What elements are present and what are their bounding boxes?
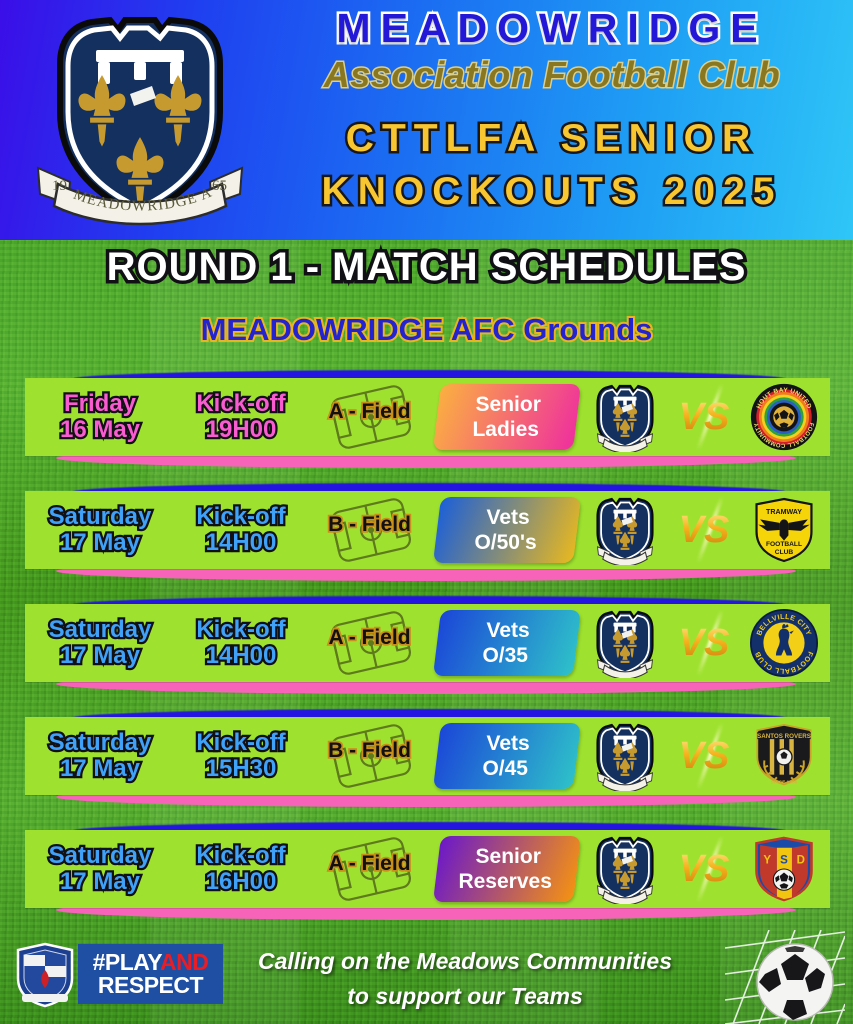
kickoff-label: Kick-off xyxy=(196,391,285,417)
field-label: A - Field xyxy=(307,852,432,876)
away-team-cell: TRAMWAY FOOTBALL CLUB xyxy=(740,491,828,569)
versus-cell: VS xyxy=(668,717,740,795)
kickoff-label: Kick-off xyxy=(196,617,285,643)
match-bar: Friday 16 May Kick-off 19H00 A - Field xyxy=(25,378,830,456)
versus-cell: VS xyxy=(668,378,740,456)
versus-cell: VS xyxy=(668,830,740,908)
category-chip: Vets O/45 xyxy=(433,723,581,789)
category-cell: Senior Reserves xyxy=(432,830,582,908)
svg-text:D: D xyxy=(797,855,805,867)
match-date-cell: Saturday 17 May xyxy=(25,717,175,795)
category-cell: Vets O/50's xyxy=(432,491,582,569)
match-date-cell: Saturday 17 May xyxy=(25,491,175,569)
category-cell: Senior Ladies xyxy=(432,378,582,456)
category-line-2: Reserves xyxy=(459,869,552,894)
kickoff-time: 14H00 xyxy=(196,530,285,556)
away-badge-hout-bay-united: HOUT BAY UNITED FOOTBALL COMMUNITY xyxy=(750,383,818,451)
match-row: Saturday 17 May Kick-off 16H00 A - Field xyxy=(0,822,853,935)
versus-cell: VS xyxy=(668,491,740,569)
field-cell: A - Field xyxy=(307,378,432,456)
club-crest-logo: 19 65 MEADOWRIDGE A F C xyxy=(30,8,250,236)
kickoff-cell: Kick-off 19H00 xyxy=(175,378,307,456)
hashtag-line-2: RESPECT xyxy=(98,974,203,997)
goalpost-emblem xyxy=(96,50,184,84)
versus-label: VS xyxy=(679,848,730,891)
svg-text:S: S xyxy=(780,855,788,867)
badge-text-mid: FOOTBALL xyxy=(766,541,802,548)
competition-title-line2: KNOCKOUTS 2025 xyxy=(252,166,852,219)
category-chip: Vets O/35 xyxy=(433,610,581,676)
category-line-1: Senior xyxy=(476,844,541,869)
badge-text-top: TRAMWAY xyxy=(766,508,802,516)
hashtag-line-1: #PLAYAND xyxy=(93,951,209,974)
versus-label: VS xyxy=(679,509,730,552)
kickoff-time: 14H00 xyxy=(196,643,285,669)
home-team-cell xyxy=(582,491,668,569)
away-team-cell: HOUT BAY UNITED FOOTBALL COMMUNITY xyxy=(740,378,828,456)
home-team-badge xyxy=(594,834,656,904)
kickoff-label: Kick-off xyxy=(196,843,285,869)
match-date: 17 May xyxy=(49,869,152,895)
badge-text-bottom: CLUB xyxy=(775,549,794,556)
category-line-1: Vets xyxy=(487,731,530,756)
kickoff-cell: Kick-off 14H00 xyxy=(175,604,307,682)
away-team-cell: BELLVILLE CITY FOOTBALL CLUB xyxy=(740,604,828,682)
match-date: 17 May xyxy=(49,530,152,556)
badge-text-top: SANTOS ROVERS xyxy=(757,733,811,740)
match-date-cell: Saturday 17 May xyxy=(25,604,175,682)
svg-text:Y: Y xyxy=(763,855,771,867)
kickoff-cell: Kick-off 14H00 xyxy=(175,491,307,569)
school-crest-icon xyxy=(14,942,76,1008)
footer-message-line-1: Calling on the Meadows Communities xyxy=(230,944,700,979)
category-line-2: O/35 xyxy=(483,643,529,668)
match-rows: Friday 16 May Kick-off 19H00 A - Field xyxy=(0,370,853,935)
home-team-cell xyxy=(582,717,668,795)
field-cell: A - Field xyxy=(307,830,432,908)
category-chip: Vets O/50's xyxy=(433,497,581,563)
match-row: Saturday 17 May Kick-off 15H30 B - Field xyxy=(0,709,853,822)
field-cell: B - Field xyxy=(307,491,432,569)
away-badge-santos-rovers: SANTOS ROVERS SINCE 1966 xyxy=(752,721,816,791)
home-team-cell xyxy=(582,604,668,682)
versus-label: VS xyxy=(679,396,730,439)
badge-text-bottom: SINCE 1966 xyxy=(771,780,798,786)
match-row: Friday 16 May Kick-off 19H00 A - Field xyxy=(0,370,853,483)
home-team-badge xyxy=(594,382,656,452)
match-day: Saturday xyxy=(49,730,152,756)
footer-message: Calling on the Meadows Communities to su… xyxy=(230,944,700,1013)
field-label: A - Field xyxy=(307,400,432,424)
category-chip: Senior Ladies xyxy=(433,384,581,450)
home-team-cell xyxy=(582,830,668,908)
field-cell: A - Field xyxy=(307,604,432,682)
versus-label: VS xyxy=(679,735,730,778)
play-and-respect-badge: #PLAYAND RESPECT xyxy=(78,944,223,1004)
match-day: Saturday xyxy=(49,843,152,869)
header-titles: MEADOWRIDGE Association Football Club CT… xyxy=(252,6,852,219)
kickoff-cell: Kick-off 16H00 xyxy=(175,830,307,908)
soccer-ball-in-net-icon xyxy=(725,930,845,1024)
match-day: Saturday xyxy=(49,504,152,530)
field-label: B - Field xyxy=(307,513,432,537)
club-subtitle: Association Football Club xyxy=(252,52,852,97)
match-bar: Saturday 17 May Kick-off 14H00 A - Field xyxy=(25,604,830,682)
match-bar: Saturday 17 May Kick-off 16H00 A - Field xyxy=(25,830,830,908)
match-date-cell: Friday 16 May xyxy=(25,378,175,456)
category-cell: Vets O/45 xyxy=(432,717,582,795)
club-name: MEADOWRIDGE xyxy=(252,6,852,50)
away-badge-ysd: Y S D xyxy=(753,835,815,903)
away-badge-tramway-fc: TRAMWAY FOOTBALL CLUB xyxy=(753,496,815,564)
venue-title: MEADOWRIDGE AFC Grounds xyxy=(0,312,853,348)
field-label: A - Field xyxy=(307,626,432,650)
versus-label: VS xyxy=(679,622,730,665)
field-cell: B - Field xyxy=(307,717,432,795)
match-day: Friday xyxy=(60,391,140,417)
category-line-2: O/50's xyxy=(474,530,536,555)
kickoff-time: 19H00 xyxy=(196,417,285,443)
category-cell: Vets O/35 xyxy=(432,604,582,682)
category-line-1: Senior xyxy=(476,392,541,417)
match-schedule-poster: 19 65 MEADOWRIDGE A F C MEADOWRIDGE Asso… xyxy=(0,0,853,1024)
category-chip: Senior Reserves xyxy=(433,836,581,902)
match-date: 17 May xyxy=(49,643,152,669)
home-team-badge xyxy=(594,608,656,678)
match-date-cell: Saturday 17 May xyxy=(25,830,175,908)
kickoff-label: Kick-off xyxy=(196,730,285,756)
match-bar: Saturday 17 May Kick-off 15H30 B - Field xyxy=(25,717,830,795)
category-line-2: O/45 xyxy=(483,756,529,781)
round-title: ROUND 1 - MATCH SCHEDULES xyxy=(0,245,853,290)
match-day: Saturday xyxy=(49,617,152,643)
kickoff-time: 15H30 xyxy=(196,756,285,782)
footer-message-line-2: to support our Teams xyxy=(230,979,700,1014)
match-date: 17 May xyxy=(49,756,152,782)
match-date: 16 May xyxy=(60,417,140,443)
field-label: B - Field xyxy=(307,739,432,763)
match-row: Saturday 17 May Kick-off 14H00 A - Field xyxy=(0,596,853,709)
match-row: Saturday 17 May Kick-off 14H00 B - Field xyxy=(0,483,853,596)
home-team-cell xyxy=(582,378,668,456)
home-team-badge xyxy=(594,721,656,791)
versus-cell: VS xyxy=(668,604,740,682)
home-team-badge xyxy=(594,495,656,565)
kickoff-label: Kick-off xyxy=(196,504,285,530)
match-bar: Saturday 17 May Kick-off 14H00 B - Field xyxy=(25,491,830,569)
category-line-2: Ladies xyxy=(472,417,539,442)
poster-header: 19 65 MEADOWRIDGE A F C MEADOWRIDGE Asso… xyxy=(0,0,853,240)
crest-year-left: 19 xyxy=(52,178,67,194)
competition-title-line1: CTTLFA SENIOR xyxy=(252,113,852,166)
kickoff-cell: Kick-off 15H30 xyxy=(175,717,307,795)
category-line-1: Vets xyxy=(487,505,530,530)
kickoff-time: 16H00 xyxy=(196,869,285,895)
away-badge-bellville-city: BELLVILLE CITY FOOTBALL CLUB xyxy=(750,609,818,677)
poster-footer: #PLAYAND RESPECT Calling on the Meadows … xyxy=(0,928,853,1024)
away-team-cell: SANTOS ROVERS SINCE 1966 xyxy=(740,717,828,795)
away-team-cell: Y S D xyxy=(740,830,828,908)
category-line-1: Vets xyxy=(487,618,530,643)
